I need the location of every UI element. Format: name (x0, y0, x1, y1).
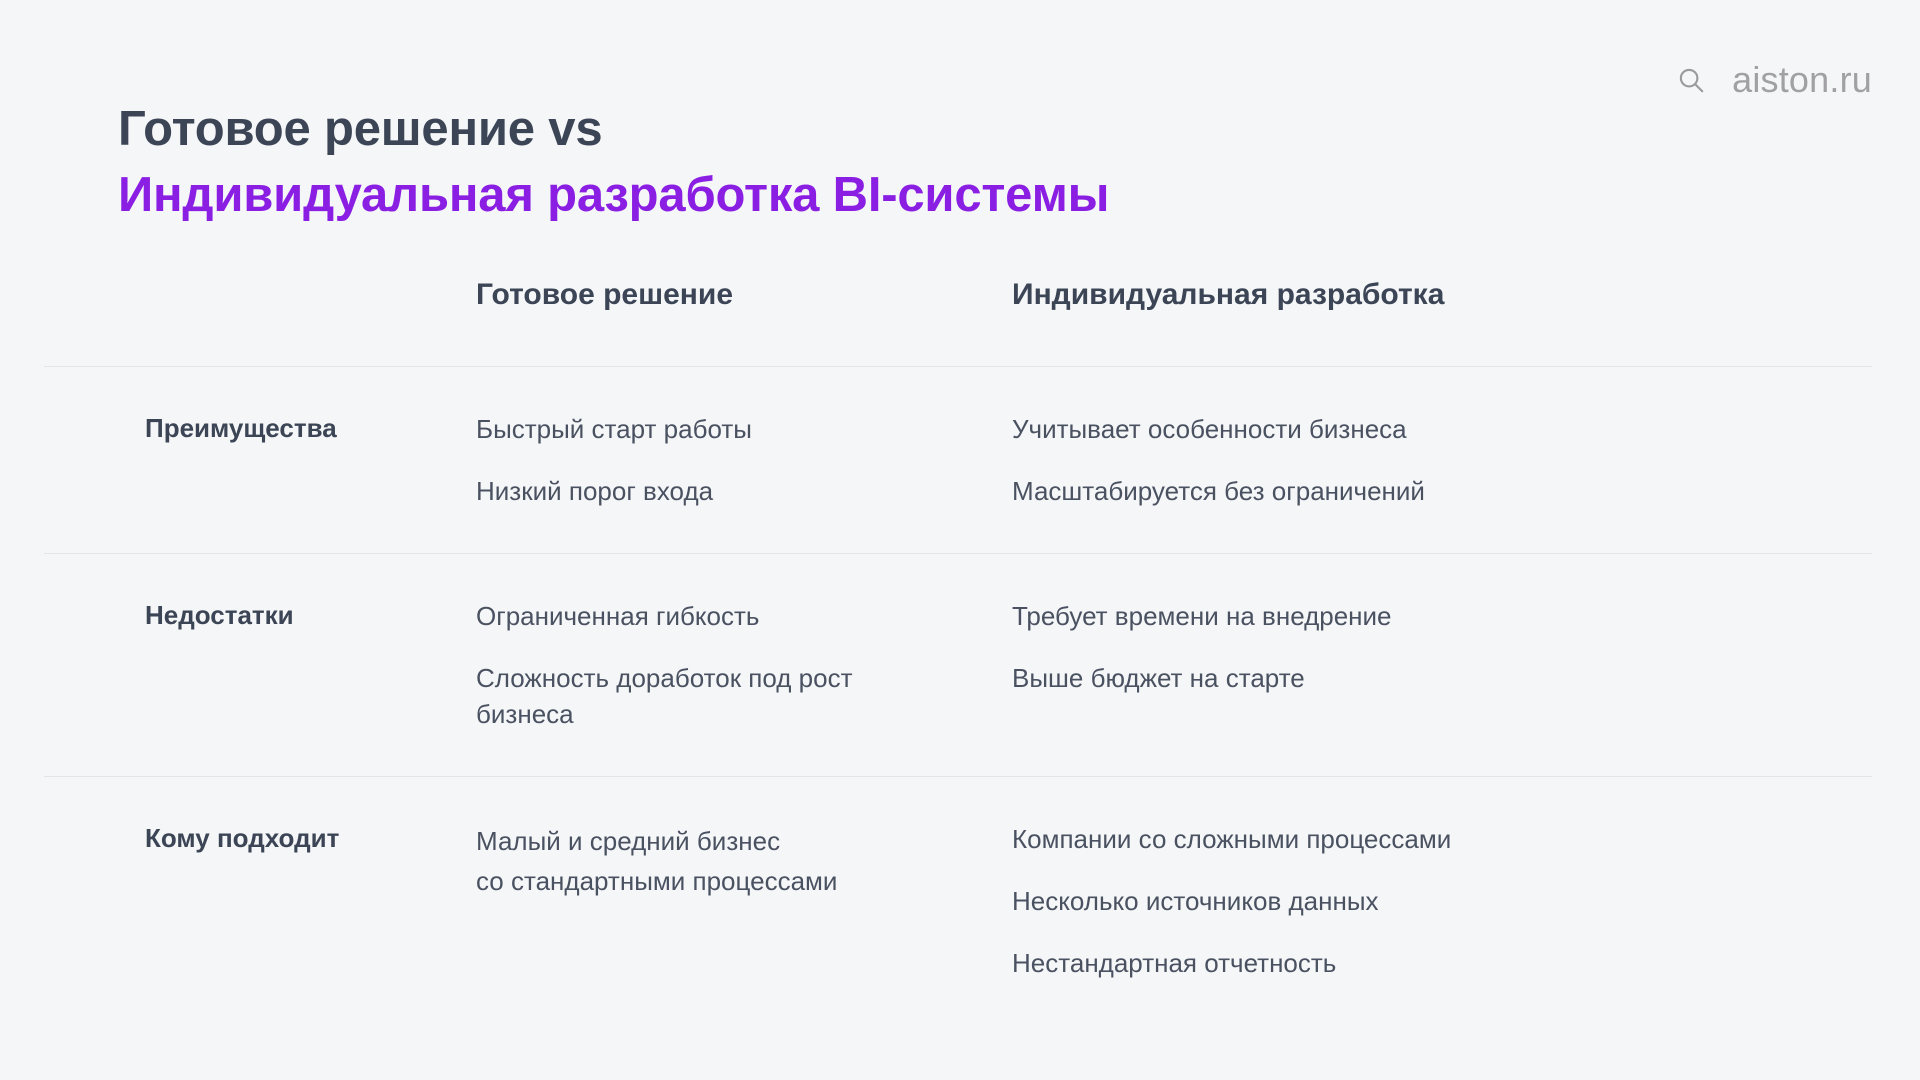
search-icon (1676, 65, 1706, 95)
table-header-cell-custom: Индивидуальная разработка (988, 276, 1872, 314)
list-item: Выше бюджет на старте (1012, 660, 1712, 696)
table-row-label-audience: Кому подходит (44, 821, 476, 855)
cell-list: Ограниченная гибкость Сложность доработо… (476, 598, 988, 732)
page-title-line-2: Индивидуальная разработка BI-системы (118, 162, 1618, 228)
brand-name: aiston.ru (1732, 62, 1872, 98)
column-header-ready: Готовое решение (476, 278, 733, 311)
table-cell-ready-advantages: Быстрый старт работы Низкий порог входа (476, 411, 988, 509)
table-cell-custom-audience: Компании со сложными процессами Нескольк… (988, 821, 1872, 981)
table-row: Недостатки Ограниченная гибкость Сложнос… (44, 553, 1872, 776)
table-cell-ready-disadvantages: Ограниченная гибкость Сложность доработо… (476, 598, 988, 732)
list-item: Несколько источников данных (1012, 883, 1712, 919)
list-item: Масштабируется без ограничений (1012, 473, 1712, 509)
cell-list: Малый и средний бизнес со стандартными п… (476, 821, 988, 901)
page-title: Готовое решение vs Индивидуальная разраб… (118, 96, 1618, 228)
table-row-label-disadvantages: Недостатки (44, 598, 476, 632)
cell-list: Компании со сложными процессами Нескольк… (1012, 821, 1872, 981)
table-row-label-advantages: Преимущества (44, 411, 476, 445)
list-item: Сложность доработок под рост бизнеса (476, 660, 946, 732)
table-header-cell-ready: Готовое решение (476, 276, 988, 314)
column-header-custom: Индивидуальная разработка (1012, 278, 1444, 311)
table-cell-custom-advantages: Учитывает особенности бизнеса Масштабиру… (988, 411, 1872, 509)
list-item: Быстрый старт работы (476, 411, 946, 447)
list-item: Нестандартная отчетность (1012, 945, 1712, 981)
list-item: Требует времени на внедрение (1012, 598, 1712, 634)
comparison-table: Готовое решение Индивидуальная разработк… (44, 276, 1872, 1021)
table-cell-custom-disadvantages: Требует времени на внедрение Выше бюджет… (988, 598, 1872, 696)
list-item-line: Малый и средний бизнес (476, 821, 946, 861)
list-item: Ограниченная гибкость (476, 598, 946, 634)
list-item: Компании со сложными процессами (1012, 821, 1712, 857)
cell-list: Требует времени на внедрение Выше бюджет… (1012, 598, 1872, 696)
list-item: Малый и средний бизнес со стандартными п… (476, 821, 946, 901)
brand-watermark: aiston.ru (1676, 62, 1872, 98)
table-row: Преимущества Быстрый старт работы Низкий… (44, 366, 1872, 553)
table-header-row: Готовое решение Индивидуальная разработк… (44, 276, 1872, 366)
cell-list: Учитывает особенности бизнеса Масштабиру… (1012, 411, 1872, 509)
cell-list: Быстрый старт работы Низкий порог входа (476, 411, 988, 509)
comparison-slide: aiston.ru Готовое решение vs Индивидуаль… (0, 0, 1920, 1080)
table-cell-ready-audience: Малый и средний бизнес со стандартными п… (476, 821, 988, 901)
page-title-line-1: Готовое решение vs (118, 96, 1618, 162)
list-item: Низкий порог входа (476, 473, 946, 509)
table-row: Кому подходит Малый и средний бизнес со … (44, 776, 1872, 1021)
list-item: Учитывает особенности бизнеса (1012, 411, 1712, 447)
list-item-line: со стандартными процессами (476, 861, 946, 901)
